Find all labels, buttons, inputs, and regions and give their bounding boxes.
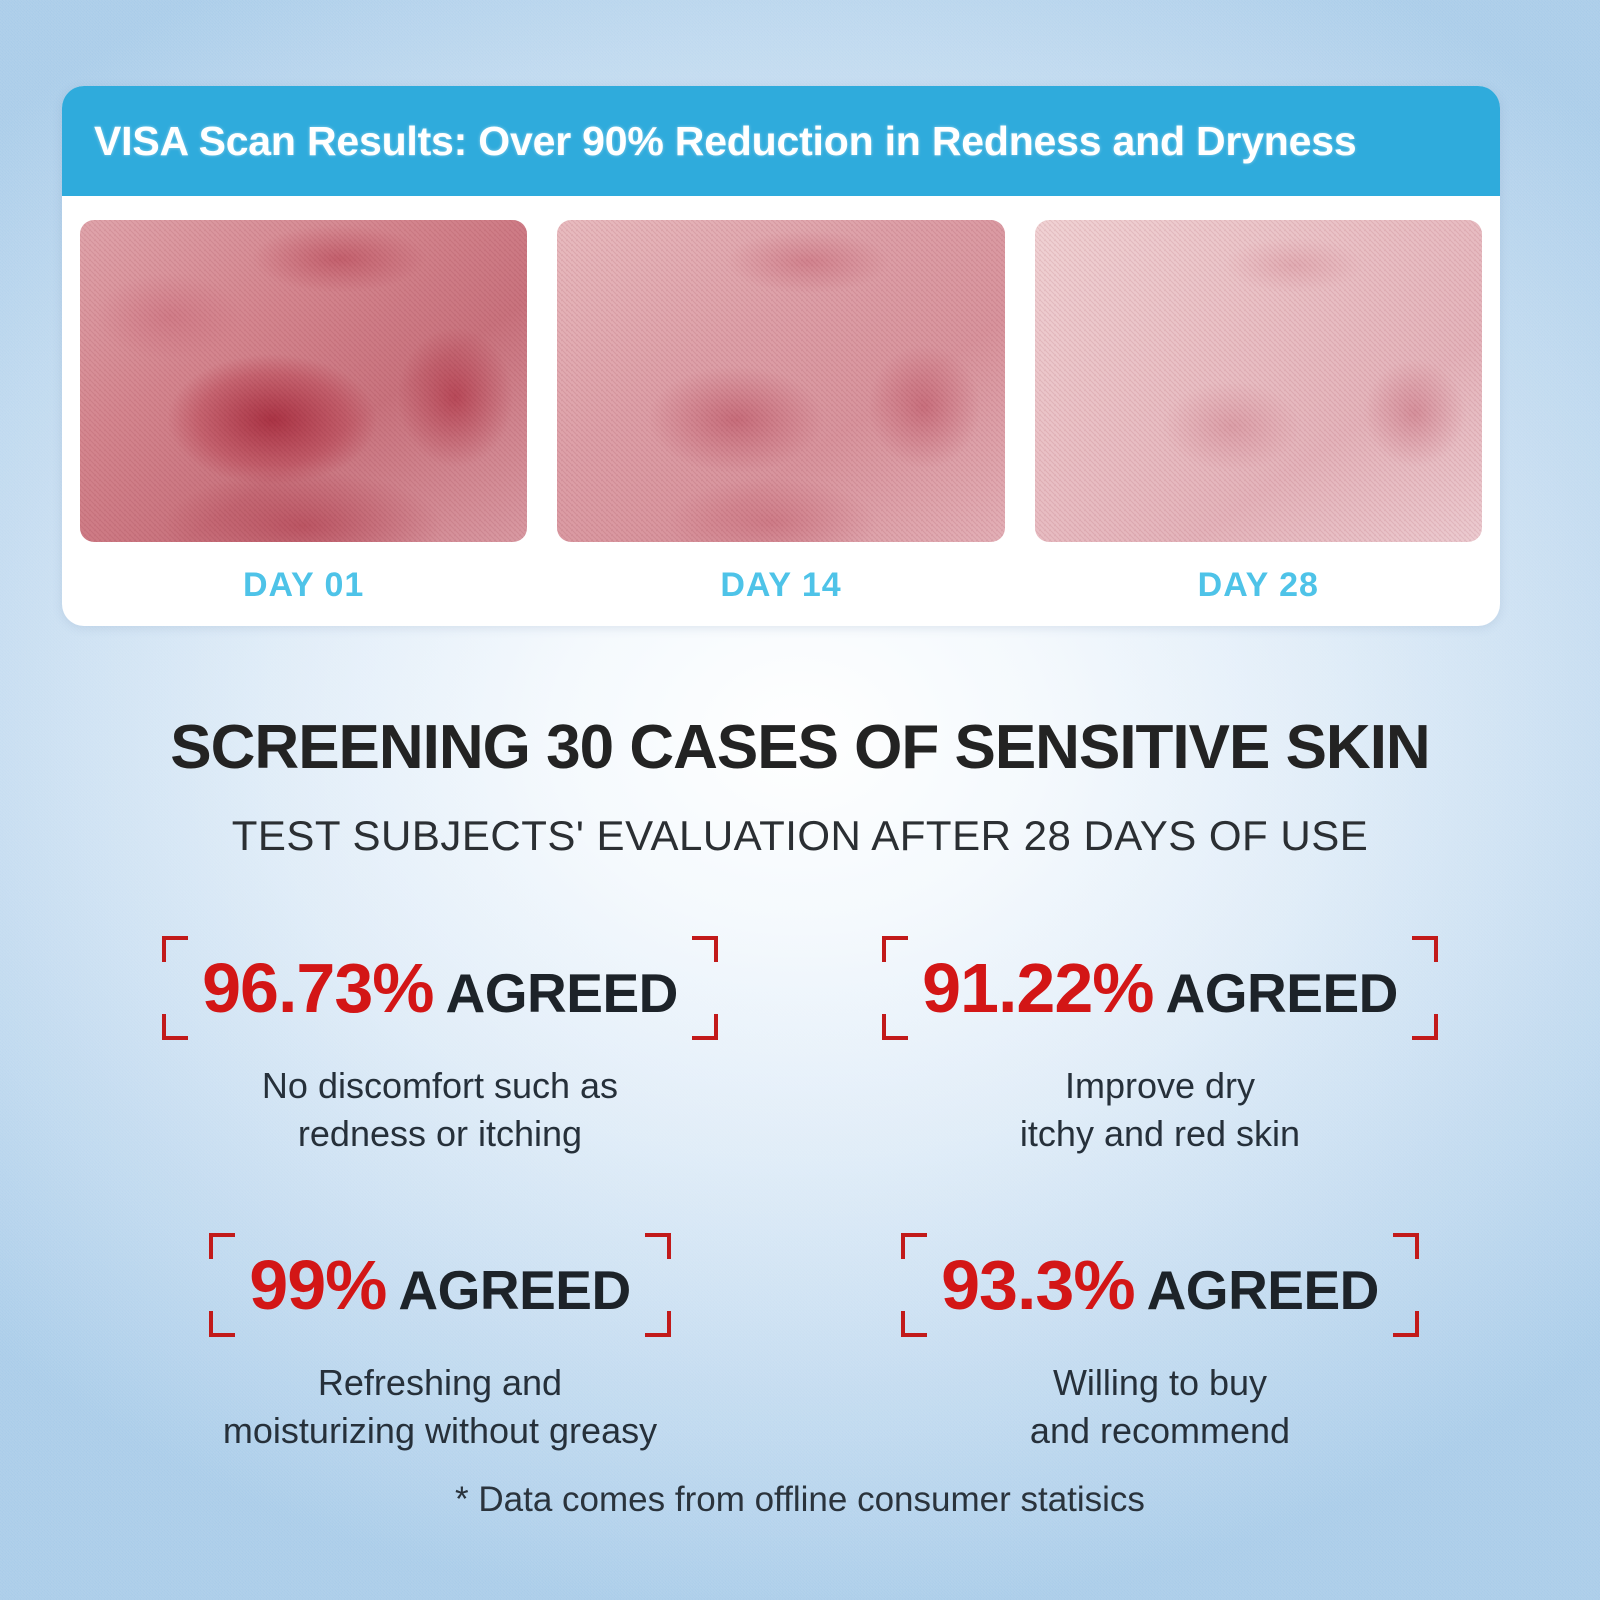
scan-panel-day-28: DAY 28 xyxy=(1035,220,1482,605)
stat-description-1-line1: No discomfort such as xyxy=(80,1062,800,1110)
bracket-top-left-icon xyxy=(901,1233,927,1259)
day-label-28: DAY 28 xyxy=(1035,566,1482,605)
bracket-top-right-icon xyxy=(1393,1233,1419,1259)
stat-agreed-label-4: AGREED xyxy=(1147,1259,1379,1321)
bracket-bottom-right-icon xyxy=(645,1311,671,1337)
statistics-grid: 96.73%AGREED No discomfort such as redne… xyxy=(80,930,1520,1454)
stat-block-1: 96.73%AGREED No discomfort such as redne… xyxy=(80,930,800,1157)
visa-scan-results-card: VISA Scan Results: Over 90% Reduction in… xyxy=(62,86,1500,626)
scan-image-panels: DAY 01 DAY 14 DAY 28 xyxy=(62,196,1500,605)
scan-panel-day-14: DAY 14 xyxy=(557,220,1004,605)
stat-description-2-line2: itchy and red skin xyxy=(800,1110,1520,1158)
skin-texture-day-14 xyxy=(557,220,1004,542)
stat-headline-2: 91.22%AGREED xyxy=(882,930,1438,1046)
bracket-top-left-icon xyxy=(209,1233,235,1259)
bracket-top-right-icon xyxy=(692,936,718,962)
stat-description-1: No discomfort such as redness or itching xyxy=(80,1062,800,1157)
data-source-footnote: * Data comes from offline consumer stati… xyxy=(0,1480,1600,1520)
day-label-01: DAY 01 xyxy=(80,566,527,605)
stat-description-2: Improve dry itchy and red skin xyxy=(800,1062,1520,1157)
stat-description-4-line2: and recommend xyxy=(800,1407,1520,1455)
stat-description-4: Willing to buy and recommend xyxy=(800,1359,1520,1454)
stat-agreed-label-2: AGREED xyxy=(1166,962,1398,1024)
stat-description-2-line1: Improve dry xyxy=(800,1062,1520,1110)
stat-headline-1: 96.73%AGREED xyxy=(162,930,718,1046)
stat-agreed-label-3: AGREED xyxy=(398,1259,630,1321)
stat-block-4: 93.3%AGREED Willing to buy and recommend xyxy=(800,1227,1520,1454)
skin-texture-day-01 xyxy=(80,220,527,542)
bracket-bottom-left-icon xyxy=(901,1311,927,1337)
bracket-bottom-left-icon xyxy=(209,1311,235,1337)
bracket-bottom-left-icon xyxy=(162,1014,188,1040)
stat-block-3: 99%AGREED Refreshing and moisturizing wi… xyxy=(80,1227,800,1454)
stat-headline-4: 93.3%AGREED xyxy=(901,1227,1419,1343)
bracket-bottom-right-icon xyxy=(692,1014,718,1040)
bracket-bottom-left-icon xyxy=(882,1014,908,1040)
stat-percent-1: 96.73% xyxy=(202,949,433,1027)
skin-scan-image-day-28 xyxy=(1035,220,1482,542)
skin-texture-day-28 xyxy=(1035,220,1482,542)
page-title: SCREENING 30 CASES OF SENSITIVE SKIN xyxy=(0,712,1600,783)
stat-description-3-line2: moisturizing without greasy xyxy=(80,1407,800,1455)
scan-panel-day-01: DAY 01 xyxy=(80,220,527,605)
stat-block-2: 91.22%AGREED Improve dry itchy and red s… xyxy=(800,930,1520,1157)
skin-scan-image-day-14 xyxy=(557,220,1004,542)
bracket-top-left-icon xyxy=(162,936,188,962)
stat-description-3-line1: Refreshing and xyxy=(80,1359,800,1407)
page-subtitle: TEST SUBJECTS' EVALUATION AFTER 28 DAYS … xyxy=(0,812,1600,860)
bracket-top-right-icon xyxy=(645,1233,671,1259)
stat-percent-4: 93.3% xyxy=(941,1246,1134,1324)
stat-agreed-label-1: AGREED xyxy=(446,962,678,1024)
stat-description-4-line1: Willing to buy xyxy=(800,1359,1520,1407)
card-header-bar: VISA Scan Results: Over 90% Reduction in… xyxy=(62,86,1500,196)
stat-percent-2: 91.22% xyxy=(922,949,1153,1027)
stat-headline-3: 99%AGREED xyxy=(209,1227,670,1343)
bracket-top-right-icon xyxy=(1412,936,1438,962)
skin-scan-image-day-01 xyxy=(80,220,527,542)
card-header-title: VISA Scan Results: Over 90% Reduction in… xyxy=(94,118,1356,165)
stat-percent-3: 99% xyxy=(249,1246,386,1324)
bracket-top-left-icon xyxy=(882,936,908,962)
stat-description-3: Refreshing and moisturizing without grea… xyxy=(80,1359,800,1454)
bracket-bottom-right-icon xyxy=(1393,1311,1419,1337)
stat-description-1-line2: redness or itching xyxy=(80,1110,800,1158)
bracket-bottom-right-icon xyxy=(1412,1014,1438,1040)
day-label-14: DAY 14 xyxy=(557,566,1004,605)
